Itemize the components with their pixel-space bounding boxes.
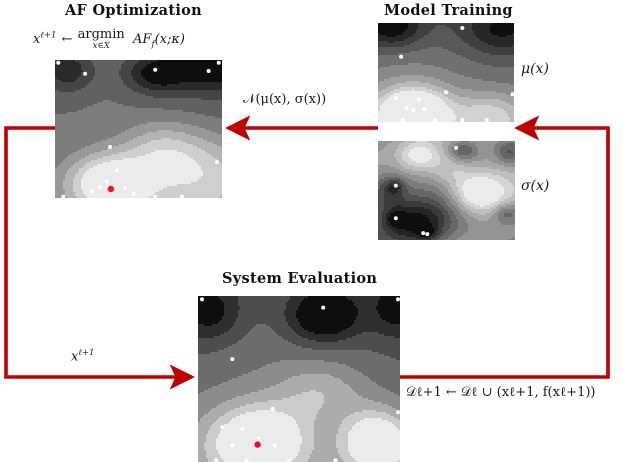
mu-panel-label: μ(x)	[521, 61, 549, 77]
af-objective-equation: xℓ+1 ← argminx∈X AFf(x;κ)	[33, 28, 185, 51]
sample-point-marker	[123, 186, 127, 190]
sample-point-marker	[425, 232, 429, 236]
sample-point-marker	[417, 97, 421, 101]
candidate-arrow-label-superscript: ℓ+1	[78, 348, 94, 358]
sample-point-marker	[405, 106, 409, 110]
system-evaluation-contour-panel	[198, 296, 400, 462]
posterior-arrow-label: 𝒩(μ(x), σ(x))	[243, 92, 326, 107]
af-objective-arrow-glyph: ←	[61, 32, 74, 47]
sigma-panel-label: σ(x)	[521, 178, 549, 194]
sample-point-marker	[411, 108, 415, 112]
sample-point-marker	[444, 90, 448, 94]
sample-point-marker	[394, 96, 398, 100]
af-objective-argmin: argminx∈X	[78, 28, 125, 51]
sample-point-marker	[454, 146, 458, 150]
bayesian-optimization-loop-diagram: AF Optimization Model Training System Ev…	[0, 0, 623, 462]
sample-point-marker	[220, 425, 224, 429]
af-objective-lhs-superscript: ℓ+1	[40, 30, 56, 40]
af-objective-argmin-domain: x∈X	[78, 42, 125, 51]
sample-point-marker	[230, 357, 234, 361]
mu-contour	[378, 23, 514, 122]
sample-point-marker	[98, 185, 102, 189]
sample-point-marker	[396, 297, 400, 301]
sample-point-marker	[207, 69, 211, 73]
candidate-arrow-label: xℓ+1	[71, 347, 94, 364]
sample-point-marker	[433, 118, 437, 122]
sample-point-marker	[56, 61, 60, 65]
af-objective-argmin-operator: argmin	[78, 28, 125, 41]
sample-point-marker	[271, 407, 275, 411]
sample-point-marker	[240, 427, 244, 431]
sample-point-marker	[273, 443, 277, 447]
sample-point-marker	[460, 118, 464, 122]
sample-point-marker	[396, 410, 400, 414]
sigma-contour-panel	[378, 141, 515, 240]
af-optimization-contour	[55, 60, 222, 198]
sample-point-marker	[421, 231, 425, 235]
sample-point-marker	[485, 118, 489, 122]
sigma-contour	[378, 141, 515, 240]
af-objective-function: AF	[133, 32, 151, 47]
dataset-update-label: 𝒟ℓ+1 ← 𝒟ℓ ∪ (xℓ+1, f(xℓ+1))	[406, 384, 596, 400]
sample-point-marker	[115, 168, 119, 172]
sample-point-marker	[200, 297, 204, 301]
sample-point-marker	[83, 72, 87, 76]
sample-point-marker	[394, 216, 398, 220]
sample-point-marker	[105, 179, 109, 183]
sample-point-marker	[422, 107, 426, 111]
page-title-model-training: Model Training	[384, 2, 513, 19]
contour-bands	[198, 296, 400, 462]
sample-point-marker	[217, 61, 221, 65]
contour-bands	[55, 60, 222, 198]
sample-point-marker	[401, 118, 405, 122]
sample-point-marker	[132, 192, 136, 196]
sample-point-marker	[399, 55, 403, 59]
sample-point-marker	[153, 68, 157, 72]
new-candidate-point-marker	[254, 441, 260, 447]
sample-point-marker	[230, 443, 234, 447]
sample-point-marker	[321, 306, 325, 310]
page-title-af-optimization: AF Optimization	[65, 2, 202, 19]
system-evaluation-contour	[198, 296, 400, 462]
sample-point-marker	[394, 184, 398, 188]
af-objective-function-args: (x;κ)	[155, 32, 185, 47]
contour-bands	[378, 141, 515, 240]
af-optimization-contour-panel	[55, 60, 222, 198]
contour-bands	[378, 23, 514, 122]
sample-point-marker	[90, 189, 94, 193]
sample-point-marker	[108, 145, 112, 149]
page-title-system-evaluation: System Evaluation	[222, 270, 377, 287]
sample-point-marker	[215, 160, 219, 164]
sample-point-marker	[257, 437, 261, 441]
new-candidate-point-marker	[108, 186, 114, 192]
sample-point-marker	[460, 26, 464, 30]
mu-contour-panel	[378, 23, 514, 122]
